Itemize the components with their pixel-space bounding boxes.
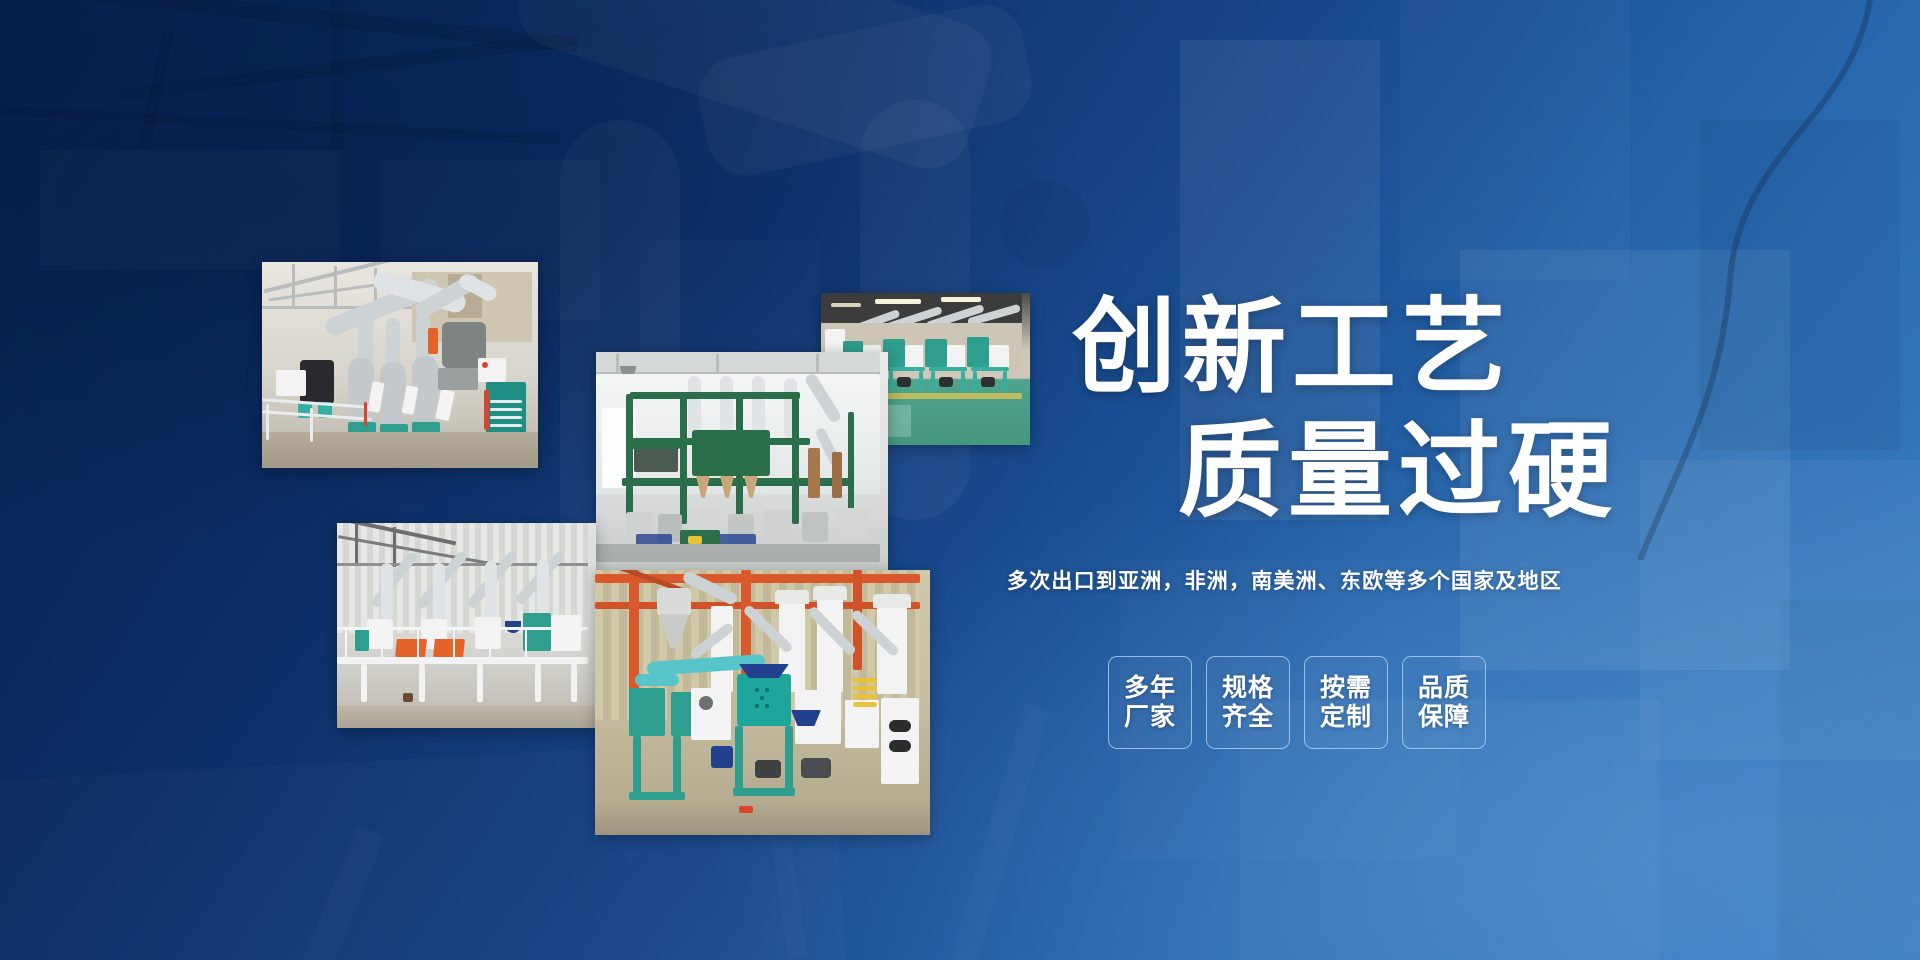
gallery-photo-5[interactable] [595,570,930,835]
feature-badge-3[interactable]: 按需 定制 [1304,656,1388,749]
feature-badge-4[interactable]: 品质 保障 [1402,656,1486,749]
hero-banner: 创新工艺 质量过硬 多次出口到亚洲，非洲，南美洲、东欧等多个国家及地区 多年 厂… [0,0,1920,960]
feature-badge-1[interactable]: 多年 厂家 [1108,656,1192,749]
feature-badge-3-line1: 按需 [1320,674,1372,703]
headline-line-2: 质量过硬 [1178,420,1618,524]
feature-badge-2-line2: 齐全 [1222,703,1274,732]
feature-badge-row: 多年 厂家 规格 齐全 按需 定制 品质 保障 [1108,656,1486,749]
feature-badge-4-line2: 保障 [1418,703,1470,732]
banner-subtitle: 多次出口到亚洲，非洲，南美洲、东欧等多个国家及地区 [1007,565,1562,595]
feature-badge-2[interactable]: 规格 齐全 [1206,656,1290,749]
gallery-photo-2[interactable] [337,523,596,728]
feature-badge-1-line1: 多年 [1124,674,1176,703]
feature-badge-4-line1: 品质 [1418,674,1470,703]
gallery-photo-1[interactable] [262,262,538,468]
gallery-photo-4[interactable] [596,352,888,570]
feature-badge-2-line1: 规格 [1222,674,1274,703]
feature-badge-3-line2: 定制 [1320,703,1372,732]
background-factory-texture [0,0,1920,960]
headline-line-1: 创新工艺 [1072,296,1512,400]
feature-badge-1-line2: 厂家 [1124,703,1176,732]
